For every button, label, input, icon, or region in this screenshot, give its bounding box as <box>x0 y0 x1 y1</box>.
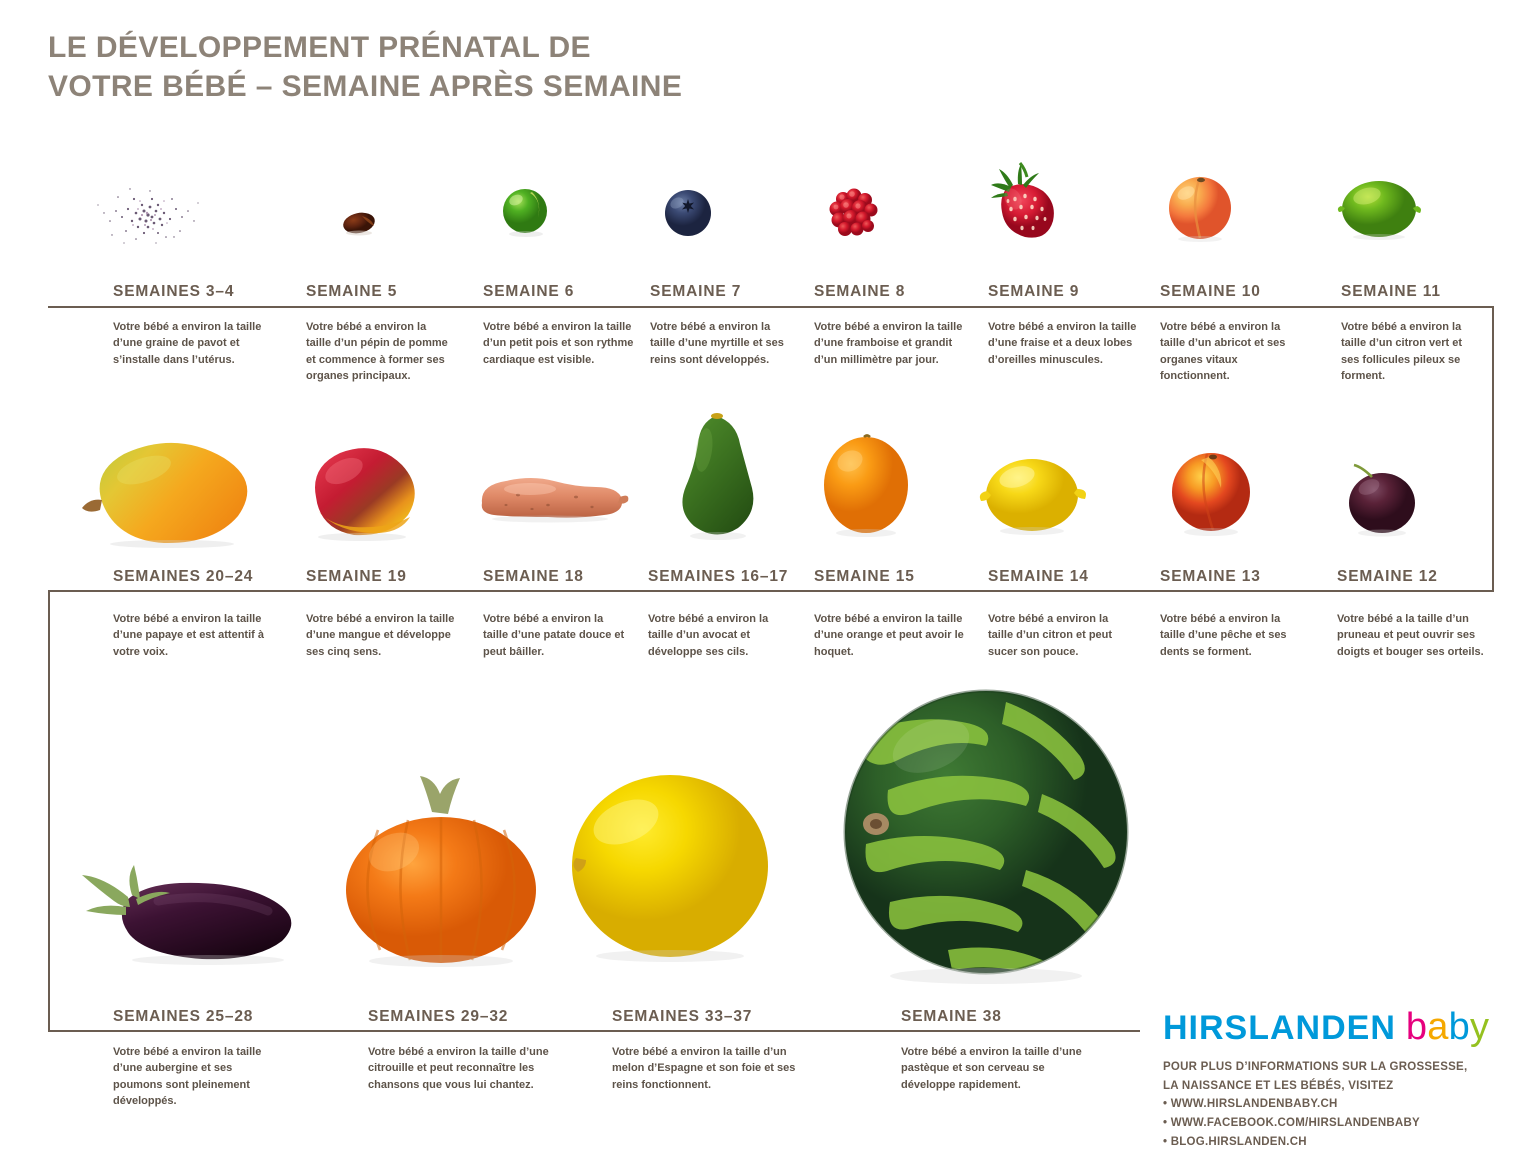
poster-root: LE DÉVELOPPEMENT PRÉNATAL DE VOTRE BÉBÉ … <box>0 0 1535 1172</box>
week-label-semaines-16-17: SEMAINES 16–17 <box>648 568 788 586</box>
week-desc-semaine-15: Votre bébé a environ la taille d’une ora… <box>814 611 966 660</box>
produce-apricot <box>1162 168 1238 244</box>
week-label-semaine-13: SEMAINE 13 <box>1160 568 1261 586</box>
week-label-semaines-20-24: SEMAINES 20–24 <box>113 568 253 586</box>
week-desc-semaine-13: Votre bébé a environ la taille d’une pêc… <box>1160 611 1308 660</box>
week-desc-semaine-14: Votre bébé a environ la taille d’un citr… <box>988 611 1136 660</box>
produce-apple-seed <box>336 203 382 239</box>
week-label-semaine-12: SEMAINE 12 <box>1337 568 1438 586</box>
produce-pumpkin <box>336 768 546 968</box>
produce-pea <box>498 184 554 240</box>
week-desc-semaine-7: Votre bébé a environ la taille d’une myr… <box>650 319 792 368</box>
week-label-semaine-15: SEMAINE 15 <box>814 568 915 586</box>
week-label-semaine-7: SEMAINE 7 <box>650 283 741 301</box>
brand-baby-letter-b2: b <box>1449 1006 1470 1048</box>
week-label-semaine-6: SEMAINE 6 <box>483 283 574 301</box>
week-label-semaine-11: SEMAINE 11 <box>1341 283 1441 301</box>
week-desc-semaine-19: Votre bébé a environ la taille d’une man… <box>306 611 466 660</box>
produce-watermelon <box>836 684 1136 984</box>
week-label-semaines-29-32: SEMAINES 29–32 <box>368 1008 508 1026</box>
page-title-line-1: LE DÉVELOPPEMENT PRÉNATAL DE <box>48 31 591 64</box>
produce-papaya <box>72 424 262 549</box>
frame-rule-row1-top <box>48 306 1494 308</box>
week-desc-semaines-29-32: Votre bébé a environ la taille d’une cit… <box>368 1044 583 1093</box>
week-desc-semaine-38: Votre bébé a environ la taille d’une pas… <box>901 1044 1096 1093</box>
page-title-line-2: VOTRE BÉBÉ – SEMAINE APRÈS SEMAINE <box>48 67 682 106</box>
week-desc-semaine-10: Votre bébé a environ la taille d’un abri… <box>1160 319 1300 384</box>
brand-baby-letter-b1: b <box>1406 1006 1427 1048</box>
week-label-semaine-10: SEMAINE 10 <box>1160 283 1261 301</box>
produce-avocado <box>672 410 764 542</box>
brand-name-hirslanden: HIRSLANDEN <box>1163 1009 1396 1047</box>
week-label-semaines-25-28: SEMAINES 25–28 <box>113 1008 253 1026</box>
produce-sweet-potato <box>472 461 630 533</box>
produce-peach <box>1165 444 1257 536</box>
week-label-semaines-33-37: SEMAINES 33–37 <box>612 1008 752 1026</box>
frame-rule-row3-top <box>48 1030 1140 1032</box>
week-label-semaine-9: SEMAINE 9 <box>988 283 1079 301</box>
produce-lime <box>1333 176 1425 242</box>
week-desc-semaine-6: Votre bébé a environ la taille d’un peti… <box>483 319 635 368</box>
week-desc-semaines-20-24: Votre bébé a environ la taille d’une pap… <box>113 611 278 660</box>
week-desc-semaines-25-28: Votre bébé a environ la taille d’une aub… <box>113 1044 278 1109</box>
week-label-semaine-19: SEMAINE 19 <box>306 568 407 586</box>
page-title: LE DÉVELOPPEMENT PRÉNATAL DE VOTRE BÉBÉ … <box>48 28 682 106</box>
frame-rule-row2-left <box>48 590 50 1032</box>
week-desc-semaine-9: Votre bébé a environ la taille d’une fra… <box>988 319 1138 368</box>
week-desc-semaine-5: Votre bébé a environ la taille d’un pépi… <box>306 319 451 384</box>
week-label-semaine-5: SEMAINE 5 <box>306 283 397 301</box>
week-desc-semaine-11: Votre bébé a environ la taille d’un citr… <box>1341 319 1483 384</box>
week-desc-semaines-16-17: Votre bébé a environ la taille d’un avoc… <box>648 611 793 660</box>
produce-raspberry <box>821 183 883 241</box>
brand-logo: HIRSLANDENbaby <box>1163 1006 1489 1049</box>
brand-baby-letter-a: a <box>1427 1006 1448 1048</box>
week-label-semaines-3-4: SEMAINES 3–4 <box>113 283 234 301</box>
brand-baby-letter-y: y <box>1470 1006 1489 1048</box>
produce-orange <box>818 431 914 539</box>
week-desc-semaine-12: Votre bébé a la taille d’un pruneau et p… <box>1337 611 1489 660</box>
produce-honeydew-melon <box>566 766 774 962</box>
footer-line-2: LA NAISSANCE ET LES BÉBÉS, VISITEZ <box>1163 1077 1467 1096</box>
footer-info: POUR PLUS D’INFORMATIONS SUR LA GROSSESS… <box>1163 1058 1467 1151</box>
footer-link-blog[interactable]: • BLOG.HIRSLANDEN.CH <box>1163 1133 1467 1152</box>
week-desc-semaines-33-37: Votre bébé a environ la taille d’un melo… <box>612 1044 807 1093</box>
produce-plum <box>1336 453 1422 537</box>
frame-rule-row1-right <box>1492 306 1494 590</box>
week-label-semaine-38: SEMAINE 38 <box>901 1008 1002 1026</box>
produce-strawberry <box>977 155 1067 245</box>
week-label-semaine-18: SEMAINE 18 <box>483 568 584 586</box>
frame-rule-row2-top <box>48 590 1494 592</box>
produce-poppy-seeds <box>88 175 208 250</box>
week-desc-semaine-8: Votre bébé a environ la taille d’une fra… <box>814 319 966 368</box>
footer-link-facebook[interactable]: • WWW.FACEBOOK.COM/HIRSLANDENBABY <box>1163 1114 1467 1133</box>
produce-lemon <box>973 451 1091 537</box>
week-desc-semaine-18: Votre bébé a environ la taille d’une pat… <box>483 611 628 660</box>
produce-mango <box>292 437 428 543</box>
week-label-semaine-14: SEMAINE 14 <box>988 568 1089 586</box>
produce-blueberry <box>660 185 716 241</box>
footer-line-1: POUR PLUS D’INFORMATIONS SUR LA GROSSESS… <box>1163 1058 1467 1077</box>
produce-eggplant <box>68 855 308 965</box>
footer-link-website[interactable]: • WWW.HIRSLANDENBABY.CH <box>1163 1095 1467 1114</box>
week-label-semaine-8: SEMAINE 8 <box>814 283 905 301</box>
week-desc-semaines-3-4: Votre bébé a environ la taille d’une gra… <box>113 319 273 368</box>
